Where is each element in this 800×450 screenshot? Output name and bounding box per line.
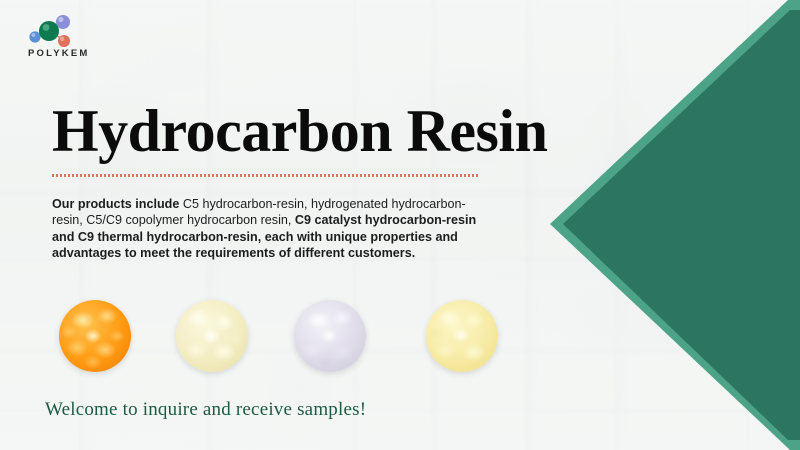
green-chevron-shape [550, 0, 800, 450]
swatch-texture [426, 300, 498, 372]
chevron-dark-fill [550, 0, 800, 450]
product-swatch-white-lavender-resin-chunks[interactable] [294, 300, 366, 372]
footer-tagline: Welcome to inquire and receive samples! [45, 399, 366, 421]
product-swatch-yellow-resin-flakes[interactable] [426, 300, 498, 372]
brand-name: POLYKEM [28, 48, 90, 59]
brand-logo: POLYKEM [18, 12, 102, 62]
swatch-texture [294, 300, 366, 372]
page-title: Hydrocarbon Resin [52, 101, 547, 161]
product-swatch-pale-cream-resin-pellets[interactable] [176, 300, 248, 372]
swatch-texture [176, 300, 248, 372]
swatch-texture [59, 300, 131, 372]
description-segment-0: Our products include [52, 197, 183, 211]
product-description: Our products include C5 hydrocarbon-resi… [52, 196, 494, 262]
product-swatch-list [0, 300, 540, 374]
product-swatch-orange-resin-pellets[interactable] [59, 300, 131, 372]
slide: POLYKEM Hydrocarbon Resin Our products i… [0, 0, 800, 450]
molecule-icon [18, 12, 102, 48]
title-underline-rule [52, 174, 480, 177]
